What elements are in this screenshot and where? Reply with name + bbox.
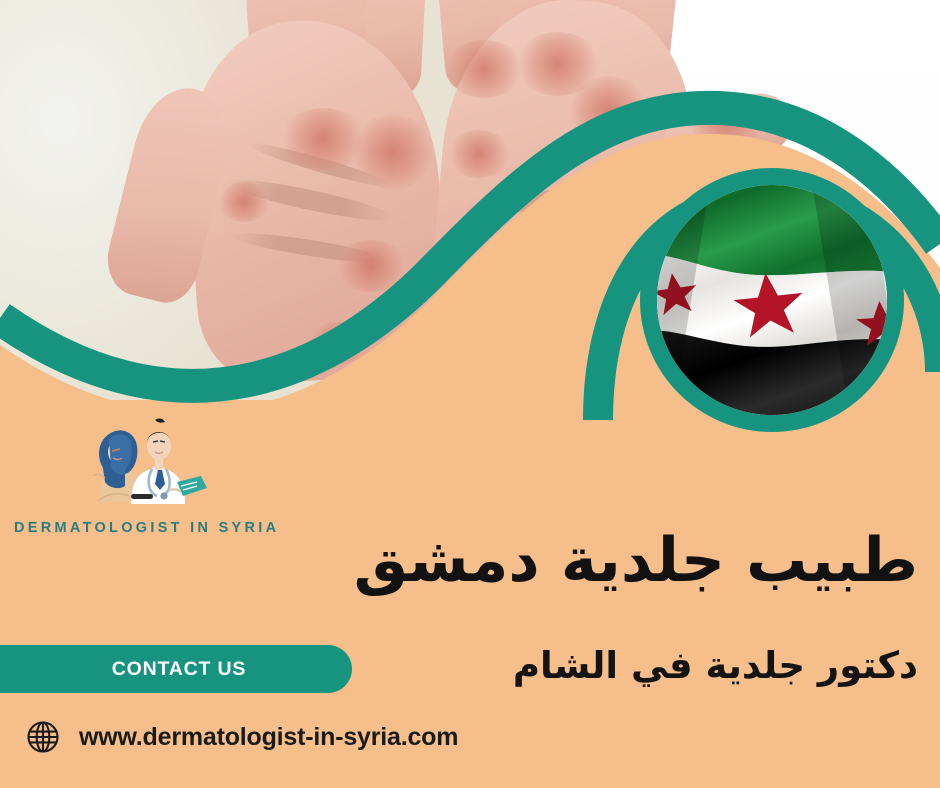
poster-canvas: DERMATOLOGIST IN SYRIA طبيب جلدية دمشق د… [0, 0, 940, 788]
page-subtitle: دكتور جلدية في الشام [513, 644, 918, 688]
logo-caption: DERMATOLOGIST IN SYRIA [14, 520, 264, 536]
website-row[interactable]: www.dermatologist-in-syria.com [24, 718, 458, 756]
flag-badge [640, 168, 904, 432]
globe-icon [24, 718, 62, 756]
website-url[interactable]: www.dermatologist-in-syria.com [79, 723, 458, 752]
syrian-flag-icon [657, 185, 887, 415]
contact-us-button[interactable]: CONTACT US [0, 645, 352, 693]
page-title: طبيب جلدية دمشق [354, 527, 918, 595]
two-doctors-icon [69, 412, 209, 510]
brand-logo[interactable]: DERMATOLOGIST IN SYRIA [14, 412, 264, 536]
